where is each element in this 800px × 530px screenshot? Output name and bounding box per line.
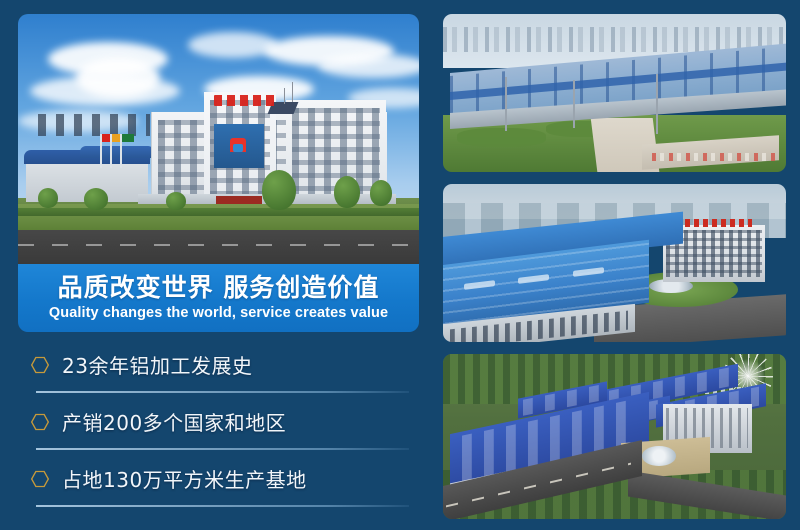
slogan-subtitle-en: Quality changes the world, service creat…: [49, 305, 388, 321]
feature-list: 23余年铝加工发展史 产销200多个国家和地区 占地130万: [18, 336, 419, 507]
feature-list-item-label: 占地130万平方米生产基地: [62, 464, 307, 493]
tree: [262, 170, 296, 210]
feature-list-item[interactable]: 占地130万平方米生产基地: [18, 450, 419, 507]
hero-photo: [18, 14, 419, 264]
rooftop-sign: [676, 219, 751, 227]
flagpole: [120, 134, 122, 168]
slogan-headline-cn: 品质改变世界 服务创造价值: [58, 275, 380, 301]
power-pylon: [573, 80, 575, 127]
parked-vehicles: [652, 153, 775, 161]
flagpole: [110, 134, 112, 168]
antenna-icon: [292, 82, 293, 102]
aerial-photo-workshops: [443, 184, 786, 342]
power-pylon: [505, 77, 507, 131]
cloud: [30, 76, 180, 106]
tree: [38, 188, 58, 208]
cloud: [318, 54, 419, 78]
feature-list-item-label: 23余年铝加工发展史: [62, 350, 252, 379]
hexagon-icon: [18, 355, 62, 375]
power-pylon: [656, 74, 658, 134]
tree: [370, 180, 392, 206]
antenna-icon: [284, 88, 285, 104]
tree: [84, 188, 108, 210]
tree: [166, 192, 186, 210]
slogan-banner: 品质改变世界 服务创造价值 Quality changes the world,…: [18, 264, 419, 332]
feature-list-item[interactable]: 产销200多个国家和地区: [18, 393, 419, 450]
green-patch: [457, 128, 546, 147]
rooftop-sign: [214, 95, 276, 106]
hexagon-icon: [18, 469, 62, 489]
road: [18, 230, 419, 264]
workshop-roof: [80, 146, 154, 158]
feature-list-item[interactable]: 23余年铝加工发展史: [18, 336, 419, 393]
company-logo-icon: [230, 138, 246, 152]
hexagon-icon: [18, 412, 62, 432]
hedge: [18, 208, 419, 216]
poster-root: 品质改变世界 服务创造价值 Quality changes the world,…: [0, 0, 800, 530]
flagpole: [100, 134, 102, 168]
list-divider: [36, 505, 409, 507]
right-column: [443, 14, 786, 519]
workshop-windows: [38, 114, 150, 136]
tree: [334, 176, 360, 208]
feature-list-item-label: 产销200多个国家和地区: [62, 407, 286, 436]
left-column: 品质改变世界 服务创造价值 Quality changes the world,…: [18, 14, 419, 519]
aerial-rendering-new-base: [443, 354, 786, 519]
aerial-photo-plant-overview: [443, 14, 786, 172]
